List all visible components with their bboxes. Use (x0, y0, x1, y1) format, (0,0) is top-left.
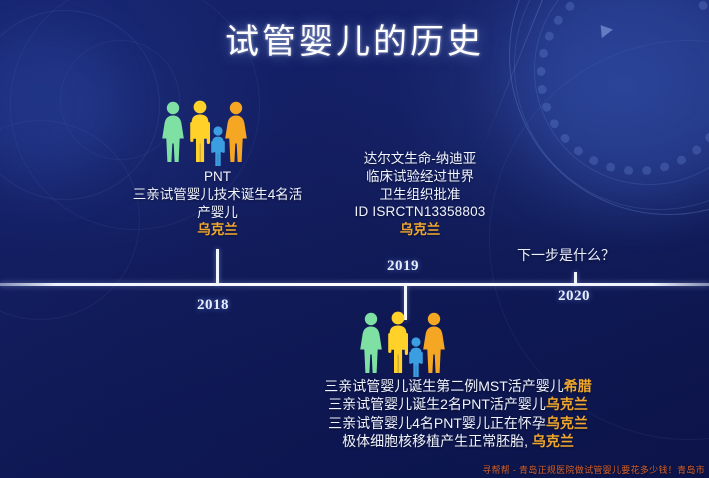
page-title: 试管婴儿的历史 (0, 14, 709, 63)
man-yellow-icon (190, 101, 210, 162)
mid-line-trial-id: ID ISRCTN13358803 (330, 203, 510, 221)
bottom-line-4-country: 乌克兰 (532, 433, 574, 449)
bottom-line-2-body: 三亲试管婴儿诞生2名PNT活产婴儿 (328, 396, 546, 412)
bottom-line-3-body: 三亲试管婴儿4名PNT婴儿正在怀孕 (328, 415, 546, 431)
mid-line-2: 临床试验经过世界 (330, 168, 510, 186)
woman-green-icon (360, 313, 382, 373)
left-line-country: 乌克兰 (110, 221, 325, 239)
woman-orange-icon (423, 313, 445, 373)
next-step-question: 下一步是什么？ (517, 245, 615, 265)
text-block-bottom: 三亲试管婴儿诞生第二例MST活产婴儿希腊 三亲试管婴儿诞生2名PNT活产婴儿乌克… (288, 377, 628, 451)
woman-orange-icon (225, 102, 247, 162)
bottom-line-4-body: 极体细胞核移植产生正常胚胎, (342, 433, 528, 449)
mid-line-1: 达尔文生命-纳迪亚 (330, 150, 510, 168)
woman-green-icon (162, 102, 184, 162)
bottom-line-1: 三亲试管婴儿诞生第二例MST活产婴儿希腊 (288, 377, 628, 395)
bottom-line-3-country: 乌克兰 (546, 415, 588, 431)
timeline-tick-2020 (574, 272, 577, 285)
timeline-tick-2018 (216, 249, 219, 285)
text-block-middle: 达尔文生命-纳迪亚 临床试验经过世界 卫生组织批准 ID ISRCTN13358… (330, 150, 510, 239)
family-group-icon (160, 100, 248, 166)
bottom-line-1-country: 希腊 (564, 378, 592, 394)
left-line-2: 三亲试管婴儿技术诞生4名活 (110, 186, 325, 204)
timeline-year-2018: 2018 (197, 297, 229, 314)
family-group-icon-bottom (358, 311, 446, 382)
bottom-line-4: 极体细胞核移植产生正常胚胎, 乌克兰 (288, 432, 628, 450)
text-block-left: PNT 三亲试管婴儿技术诞生4名活 产婴儿 乌克兰 (110, 168, 325, 239)
timeline-axis (0, 283, 709, 286)
family-group-icon-top (160, 100, 248, 171)
left-line-1: PNT (110, 168, 325, 186)
man-yellow-icon (388, 312, 408, 373)
mid-line-3: 卫生组织批准 (330, 186, 510, 204)
child-blue-icon (409, 337, 423, 377)
bottom-line-3: 三亲试管婴儿4名PNT婴儿正在怀孕乌克兰 (288, 414, 628, 432)
child-blue-icon (211, 126, 225, 166)
bottom-line-2: 三亲试管婴儿诞生2名PNT活产婴儿乌克兰 (288, 395, 628, 413)
left-line-3: 产婴儿 (110, 204, 325, 222)
family-group-icon (358, 311, 446, 377)
watermark-text: 寻帮帮 - 青岛正规医院做试管婴儿要花多少钱！青岛市 (482, 463, 705, 476)
timeline-year-2020: 2020 (558, 288, 590, 305)
timeline-year-2019: 2019 (387, 258, 419, 275)
bottom-line-2-country: 乌克兰 (546, 396, 588, 412)
slide-canvas: 试管婴儿的历史 (0, 0, 709, 478)
bottom-line-1-body: 三亲试管婴儿诞生第二例MST活产婴儿 (324, 378, 564, 394)
mid-line-country: 乌克兰 (330, 221, 510, 239)
